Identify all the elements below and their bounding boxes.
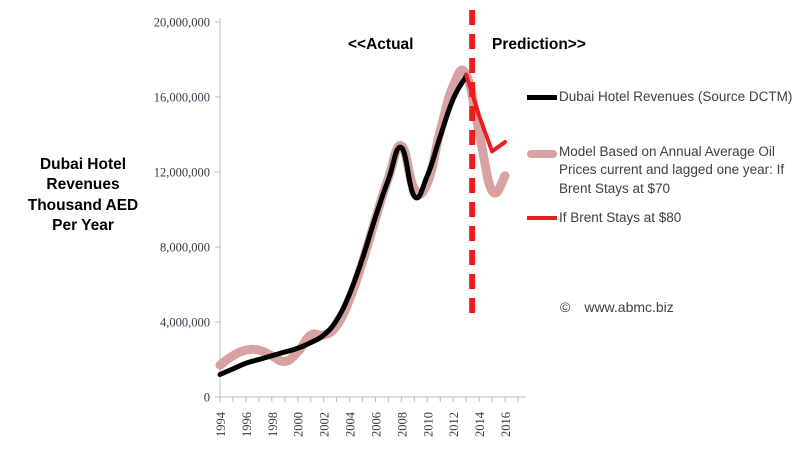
legend-swatch-pink-band-icon [527,150,557,158]
legend-item-model-80: If Brent Stays at $80 [527,209,795,228]
x-axis-tick-label: 1994 [214,411,228,437]
y-axis-title-line-4: Per Year [8,216,158,236]
y-axis-tick-label: 16,000,000 [154,91,210,105]
annotation-actual: <<Actual [348,36,413,54]
x-axis-tick-label: 2014 [473,411,487,437]
legend-item-model-70: Model Based on Annual Average Oil Prices… [527,143,795,199]
chart-legend: Dubai Hotel Revenues (Source DCTM) Model… [527,88,795,229]
x-axis-tick-label: 1998 [266,412,280,437]
x-axis-tick-label: 2010 [421,412,435,437]
y-axis-title-line-1: Dubai Hotel [8,155,158,175]
legend-label-model-80: If Brent Stays at $80 [559,209,681,228]
x-axis-tick-label: 2000 [292,412,306,437]
copyright-symbol-icon: © [560,299,570,315]
y-axis-tick-label: 12,000,000 [154,166,210,180]
y-axis-title-line-3: Thousand AED [8,196,158,216]
legend-item-actual: Dubai Hotel Revenues (Source DCTM) [527,88,795,107]
legend-swatch-red-line-icon [527,216,557,220]
y-axis-tick-label: 20,000,000 [154,16,210,30]
x-axis-tick-label: 2004 [344,411,358,437]
y-axis-tick-label: 0 [204,391,210,405]
x-axis-tick-label: 2006 [369,412,383,437]
x-axis-tick-label: 1996 [240,412,254,437]
annotation-prediction: Prediction>> [492,36,586,54]
x-axis-tick-label: 2012 [447,412,461,437]
copyright-url: www.abmc.biz [584,299,673,315]
series-model-70-line [220,70,505,365]
x-axis-tick-label: 2016 [499,412,513,437]
legend-swatch-black-line-icon [527,95,557,100]
y-axis-tick-label: 4,000,000 [160,316,210,330]
legend-spacer-1 [527,109,795,143]
x-axis-tick-label: 2008 [395,412,409,437]
y-axis-tick-label: 8,000,000 [160,241,210,255]
copyright-notice: ©www.abmc.biz [560,299,674,315]
legend-label-model-70: Model Based on Annual Average Oil Prices… [559,143,795,199]
y-axis-title: Dubai Hotel Revenues Thousand AED Per Ye… [8,155,158,237]
legend-label-actual: Dubai Hotel Revenues (Source DCTM) [559,88,792,107]
x-axis-tick-label: 2002 [318,412,332,437]
chart-container: 04,000,0008,000,00012,000,00016,000,0002… [0,0,800,456]
y-axis-title-line-2: Revenues [8,175,158,195]
legend-spacer-2 [527,201,795,209]
series-actual-line [220,76,466,374]
